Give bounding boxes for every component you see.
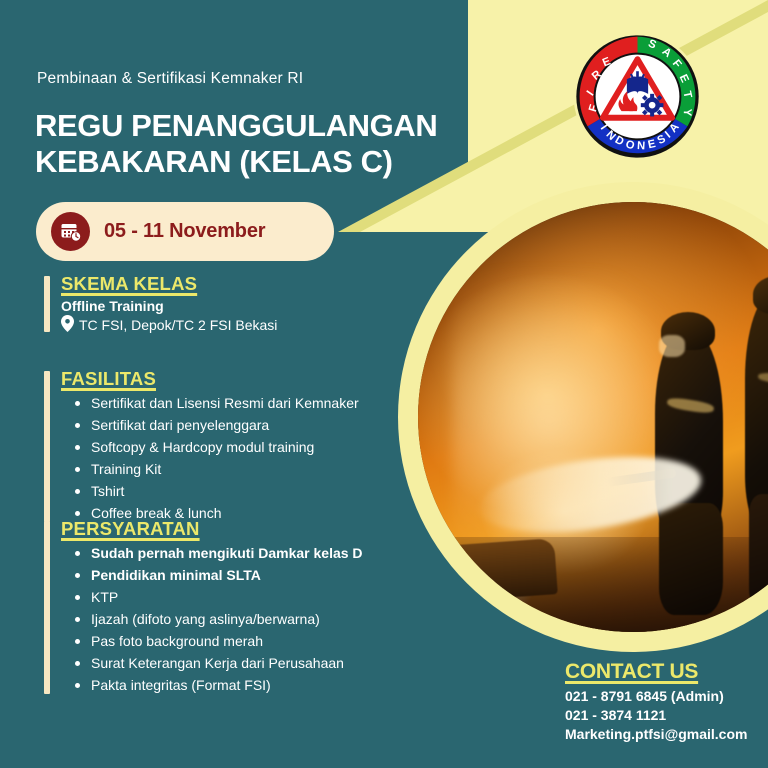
date-badge-label: 05 - 11 November	[104, 220, 265, 243]
firefighter-two-legs	[749, 494, 768, 614]
section-title-fasilitas: FASILITAS	[61, 368, 359, 390]
fasilitas-list: Sertifikat dan Lisensi Resmi dari Kemnak…	[61, 393, 359, 525]
skema-location-label: TC FSI, Depok/TC 2 FSI Bekasi	[79, 317, 277, 333]
section-skema-kelas: SKEMA KELAS Offline Training TC FSI, Dep…	[44, 273, 277, 335]
list-item: Sertifikat dari penyelenggara	[75, 415, 359, 437]
skema-mode-label: Offline Training	[61, 298, 277, 314]
poster-title: REGU PENANGGULANGAN KEBAKARAN (KELAS C)	[35, 108, 465, 180]
firefighters-photo	[418, 202, 768, 632]
list-item: Ijazah (difoto yang aslinya/berwarna)	[75, 609, 363, 631]
firefighter-one-visor	[659, 335, 685, 357]
list-item: Sudah pernah mengikuti Damkar kelas D	[75, 543, 363, 565]
map-pin-icon	[61, 315, 74, 335]
list-item: Pas foto background merah	[75, 631, 363, 653]
section-persyaratan: PERSYARATAN Sudah pernah mengikuti Damka…	[44, 518, 363, 697]
fire-safety-indonesia-logo: F I R E S A F E T Y I N D O N E S I	[571, 30, 704, 163]
list-item: Tshirt	[75, 481, 359, 503]
contact-phone-admin[interactable]: 021 - 8791 6845 (Admin)	[565, 687, 765, 706]
svg-text:Y: Y	[681, 108, 693, 116]
section-title-persyaratan: PERSYARATAN	[61, 518, 363, 540]
skema-location: TC FSI, Depok/TC 2 FSI Bekasi	[61, 315, 277, 335]
section-title-skema: SKEMA KELAS	[61, 273, 277, 295]
calendar-clock-icon	[51, 212, 90, 251]
poster-subtitle: Pembinaan & Sertifikasi Kemnaker RI	[37, 70, 303, 88]
contact-email[interactable]: Marketing.ptfsi@gmail.com	[565, 725, 765, 744]
contact-block: CONTACT US 021 - 8791 6845 (Admin) 021 -…	[565, 660, 765, 744]
poster-title-line-2: KEBAKARAN (KELAS C)	[35, 144, 465, 180]
persyaratan-list: Sudah pernah mengikuti Damkar kelas DPen…	[61, 543, 363, 697]
list-item: Pendidikan minimal SLTA	[75, 565, 363, 587]
contact-phone-secondary[interactable]: 021 - 3874 1121	[565, 706, 765, 725]
date-badge[interactable]: 05 - 11 November	[36, 202, 334, 261]
firefighter-one-legs	[659, 503, 724, 615]
list-item: Surat Keterangan Kerja dari Perusahaan	[75, 653, 363, 675]
list-item: Pakta integritas (Format FSI)	[75, 675, 363, 697]
list-item: Softcopy & Hardcopy modul training	[75, 437, 359, 459]
list-item: Sertifikat dan Lisensi Resmi dari Kemnak…	[75, 393, 359, 415]
list-item: Training Kit	[75, 459, 359, 481]
photo-debris	[442, 538, 557, 602]
poster-canvas: F I R E S A F E T Y I N D O N E S I	[0, 0, 768, 768]
svg-text:N: N	[637, 140, 646, 152]
list-item: KTP	[75, 587, 363, 609]
poster-title-line-1: REGU PENANGGULANGAN	[35, 108, 465, 144]
section-fasilitas: FASILITAS Sertifikat dan Lisensi Resmi d…	[44, 368, 359, 525]
contact-title: CONTACT US	[565, 660, 765, 684]
